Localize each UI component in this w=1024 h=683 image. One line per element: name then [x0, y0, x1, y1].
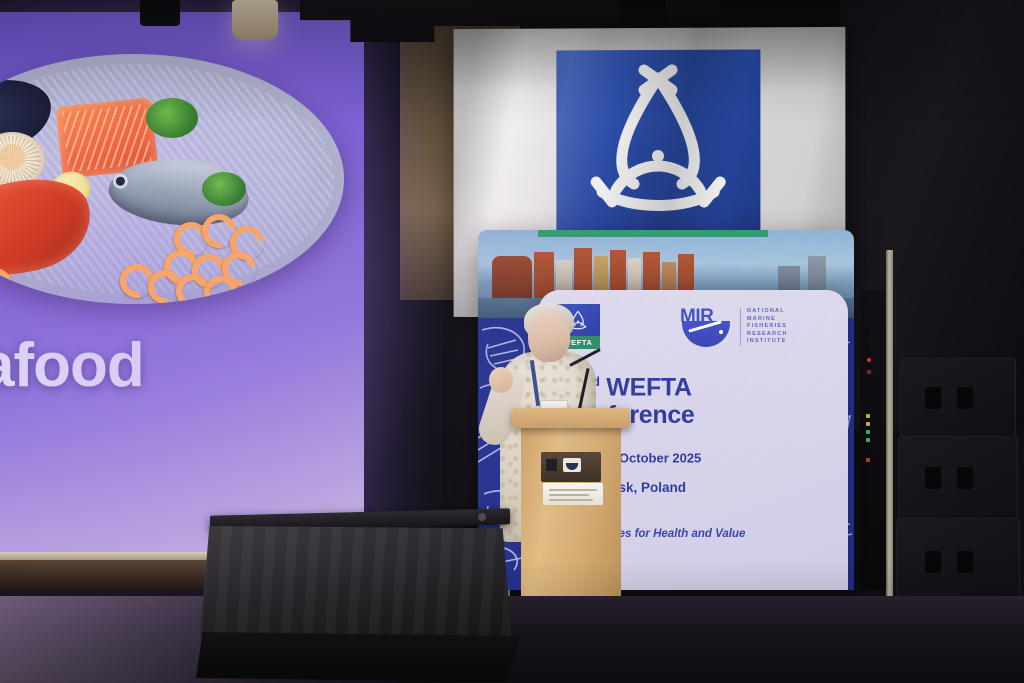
speaker-cabinet: [896, 518, 1020, 604]
stage-pole: [886, 250, 893, 600]
led-indicator-amber: [866, 414, 870, 418]
backdrop-logo-row: WEFTA MIR NATIONAL MARINE FISHERIES RESE…: [556, 304, 834, 352]
mir-subtitle: NATIONAL MARINE FISHERIES RESEARCH INSTI…: [740, 308, 788, 345]
lectern-plaque: [543, 483, 603, 505]
led-indicator-red: [866, 458, 870, 462]
draped-table: [196, 512, 520, 683]
mir-fish-bowl-icon: [682, 321, 730, 347]
led-indicator-amber: [866, 422, 870, 426]
led-indicator-green: [866, 430, 870, 434]
parsley-icon: [146, 98, 198, 138]
gdansk-crane-icon: [492, 256, 532, 300]
table-drape-cloth: [200, 526, 512, 638]
mir-mark-icon: MIR: [680, 306, 734, 348]
seafood-platter-image: [0, 54, 344, 304]
stage-light-icon: [766, 0, 796, 18]
lectern-panel-logo-icon: [563, 458, 581, 472]
lectern-panel-button[interactable]: [546, 459, 557, 471]
parsley-icon: [202, 172, 246, 206]
presenter-hand: [489, 367, 513, 393]
lectern-desktop: [512, 408, 630, 428]
green-accent-line: [538, 230, 768, 237]
stage-light-icon: [620, 0, 666, 22]
stage-light-lit-icon: [232, 0, 278, 40]
table-knob-icon: [478, 513, 486, 521]
projection-screen: afood: [0, 12, 364, 557]
slide-title: afood: [0, 330, 144, 401]
led-indicator-red: [867, 358, 871, 362]
led-indicator-green: [866, 438, 870, 442]
conference-stage-photo: afood: [0, 0, 1024, 683]
table-front-skirt: [196, 632, 520, 682]
presenter-head: [528, 310, 570, 362]
speaker-cabinet: [900, 358, 1016, 438]
speaker-cabinet: [898, 436, 1018, 520]
equipment-rack: [860, 290, 886, 590]
stage-light-icon: [140, 0, 180, 26]
led-indicator-red: [867, 370, 871, 374]
mir-logo: MIR NATIONAL MARINE FISHERIES RESEARCH I…: [680, 306, 788, 348]
